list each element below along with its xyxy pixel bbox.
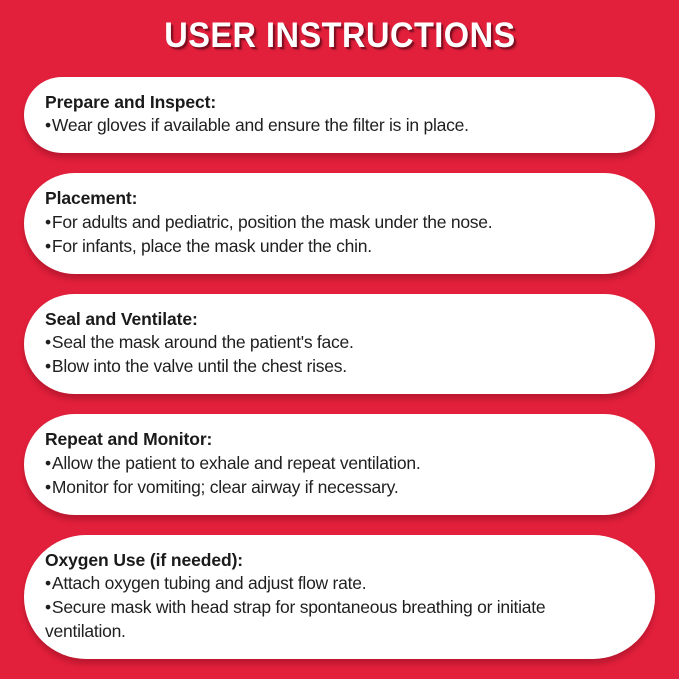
instruction-card: Repeat and Monitor: •Allow the patient t… (24, 414, 655, 514)
instruction-card: Oxygen Use (if needed): •Attach oxygen t… (24, 535, 655, 659)
instruction-bullet-text: For adults and pediatric, position the m… (52, 212, 493, 232)
instruction-card-heading: Oxygen Use (if needed): (45, 549, 621, 572)
instruction-bullet-line: •For infants, place the mask under the c… (45, 235, 621, 259)
instruction-bullet-text: Attach oxygen tubing and adjust flow rat… (52, 573, 366, 593)
instruction-card-list: Prepare and Inspect: •Wear gloves if ava… (24, 77, 655, 659)
bullet-icon: • (45, 572, 51, 596)
instruction-card-heading: Repeat and Monitor: (45, 428, 621, 451)
instruction-card: Placement: •For adults and pediatric, po… (24, 173, 655, 273)
instruction-bullet-line: •Secure mask with head strap for spontan… (45, 596, 621, 644)
bullet-icon: • (45, 114, 51, 138)
instruction-card-heading: Prepare and Inspect: (45, 91, 621, 114)
bullet-icon: • (45, 476, 51, 500)
instruction-card: Seal and Ventilate: •Seal the mask aroun… (24, 294, 655, 394)
bullet-icon: • (45, 355, 51, 379)
instruction-card: Prepare and Inspect: •Wear gloves if ava… (24, 77, 655, 153)
instruction-bullet-line: •Monitor for vomiting; clear airway if n… (45, 476, 621, 500)
bullet-icon: • (45, 211, 51, 235)
bullet-icon: • (45, 331, 51, 355)
bullet-icon: • (45, 596, 51, 620)
instruction-card-heading: Placement: (45, 187, 621, 210)
instruction-bullet-line: •For adults and pediatric, position the … (45, 211, 621, 235)
instruction-bullet-line: •Allow the patient to exhale and repeat … (45, 452, 621, 476)
instruction-bullet-text: Wear gloves if available and ensure the … (52, 115, 469, 135)
instruction-bullet-text: Seal the mask around the patient's face. (52, 332, 354, 352)
instructions-poster: USER INSTRUCTIONS Prepare and Inspect: •… (0, 0, 679, 679)
instruction-bullet-text: Allow the patient to exhale and repeat v… (52, 453, 421, 473)
title-bar: USER INSTRUCTIONS (0, 0, 679, 72)
bullet-icon: • (45, 452, 51, 476)
instruction-card-heading: Seal and Ventilate: (45, 308, 621, 331)
instruction-bullet-text: Blow into the valve until the chest rise… (52, 356, 347, 376)
instruction-bullet-text: Secure mask with head strap for spontane… (45, 597, 545, 641)
instruction-bullet-line: •Attach oxygen tubing and adjust flow ra… (45, 572, 621, 596)
instruction-bullet-text: For infants, place the mask under the ch… (52, 236, 372, 256)
instruction-bullet-text: Monitor for vomiting; clear airway if ne… (52, 477, 399, 497)
page-title: USER INSTRUCTIONS (164, 16, 516, 56)
instruction-bullet-line: •Seal the mask around the patient's face… (45, 331, 621, 355)
instruction-bullet-line: •Wear gloves if available and ensure the… (45, 114, 621, 138)
bullet-icon: • (45, 235, 51, 259)
instruction-bullet-line: •Blow into the valve until the chest ris… (45, 355, 621, 379)
